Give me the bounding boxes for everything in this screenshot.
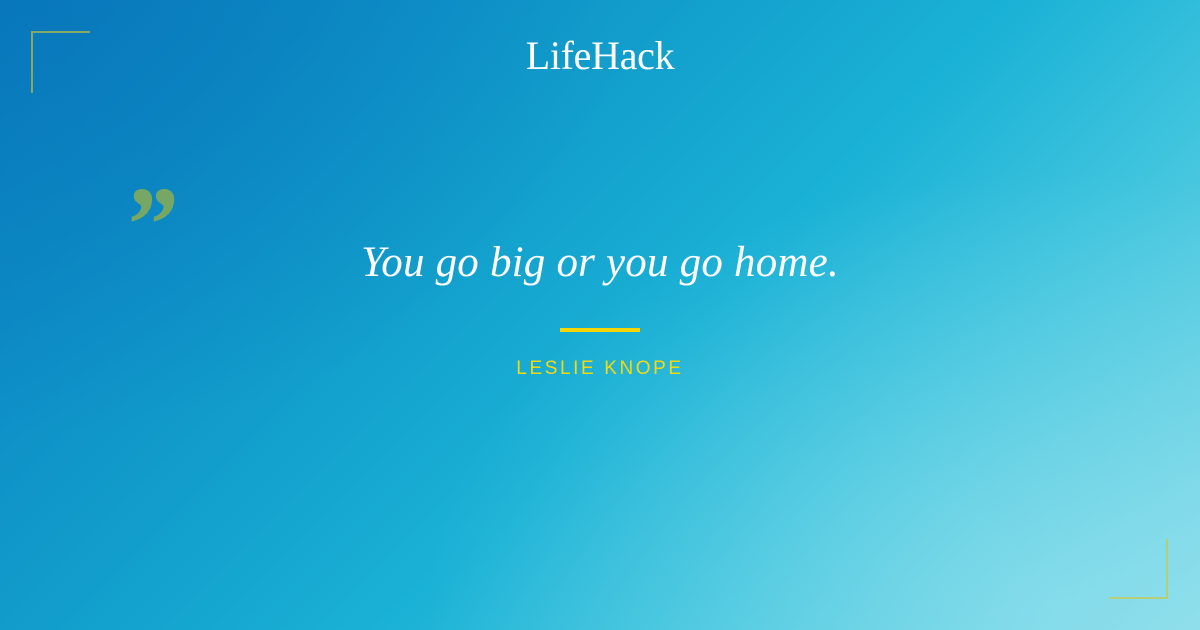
quote-author: LESLIE KNOPE [516,358,683,380]
quote-divider [560,328,640,332]
quote-card: LifeHack ” You go big or you go home. LE… [0,0,1200,630]
quote-text: You go big or you go home. [361,236,839,290]
quote-content: You go big or you go home. LESLIE KNOPE [0,0,1200,630]
